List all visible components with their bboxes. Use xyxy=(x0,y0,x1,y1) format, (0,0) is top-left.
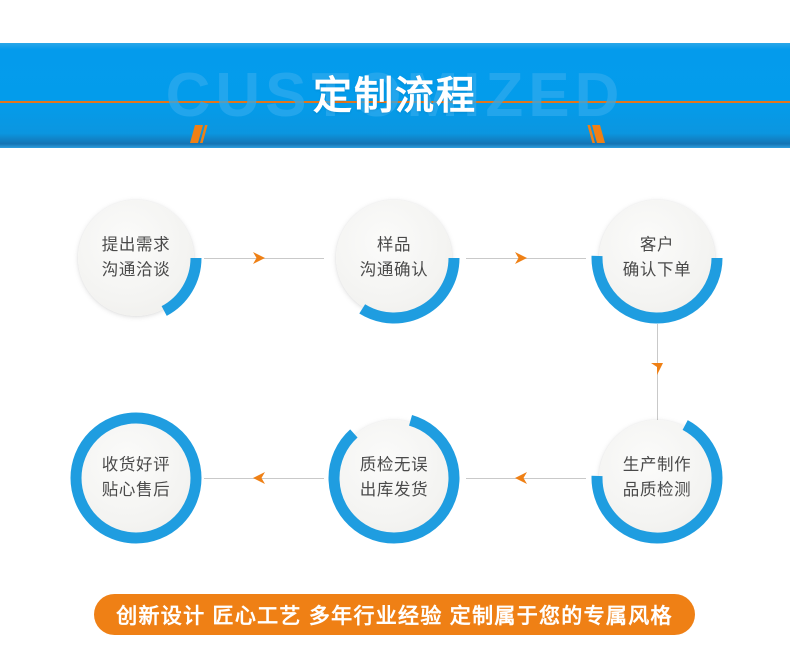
flow-step-3-line2: 确认下单 xyxy=(623,258,691,283)
arrow-right-icon-2 xyxy=(512,249,530,267)
flow-step-1-caption: 提出需求 沟通洽谈 xyxy=(70,192,202,324)
footer-slogan-text: 创新设计 匠心工艺 多年行业经验 定制属于您的专属风格 xyxy=(116,600,673,630)
flow-step-3-caption: 客户 确认下单 xyxy=(591,192,723,324)
arrow-left-icon-5 xyxy=(250,469,268,487)
flow-step-6-line1: 收货好评 xyxy=(102,453,170,478)
flow-step-2-line1: 样品 xyxy=(377,233,411,258)
process-flow-diagram: 提出需求 沟通洽谈 样品 沟通确认 客户 确认下单 生产制作 品质检测 xyxy=(0,148,790,578)
arrow-right-icon-1 xyxy=(250,249,268,267)
flow-step-2-caption: 样品 沟通确认 xyxy=(328,192,460,324)
flow-step-4-line1: 生产制作 xyxy=(623,453,691,478)
flow-step-6[interactable]: 收货好评 贴心售后 xyxy=(70,412,202,544)
page-title: 定制流程 xyxy=(0,43,790,148)
flow-step-5-line1: 质检无误 xyxy=(360,453,428,478)
flow-step-3-line1: 客户 xyxy=(640,233,674,258)
flow-step-1[interactable]: 提出需求 沟通洽谈 xyxy=(70,192,202,324)
flow-step-6-line2: 贴心售后 xyxy=(102,478,170,503)
header-banner: CUSTOMIZED 定制流程 xyxy=(0,43,790,148)
flow-step-2-line2: 沟通确认 xyxy=(360,258,428,283)
flow-step-5-caption: 质检无误 出库发货 xyxy=(328,412,460,544)
flow-step-4-caption: 生产制作 品质检测 xyxy=(591,412,723,544)
footer-slogan-banner: 创新设计 匠心工艺 多年行业经验 定制属于您的专属风格 xyxy=(94,594,695,635)
flow-step-4-line2: 品质检测 xyxy=(623,478,691,503)
flow-step-4[interactable]: 生产制作 品质检测 xyxy=(591,412,723,544)
flow-step-6-caption: 收货好评 贴心售后 xyxy=(70,412,202,544)
arrow-down-icon-3 xyxy=(648,360,666,378)
flow-step-1-line2: 沟通洽谈 xyxy=(102,258,170,283)
flow-step-5-line2: 出库发货 xyxy=(360,478,428,503)
flow-step-3[interactable]: 客户 确认下单 xyxy=(591,192,723,324)
arrow-left-icon-4 xyxy=(512,469,530,487)
flow-step-2[interactable]: 样品 沟通确认 xyxy=(328,192,460,324)
flow-step-1-line1: 提出需求 xyxy=(102,233,170,258)
flow-step-5[interactable]: 质检无误 出库发货 xyxy=(328,412,460,544)
